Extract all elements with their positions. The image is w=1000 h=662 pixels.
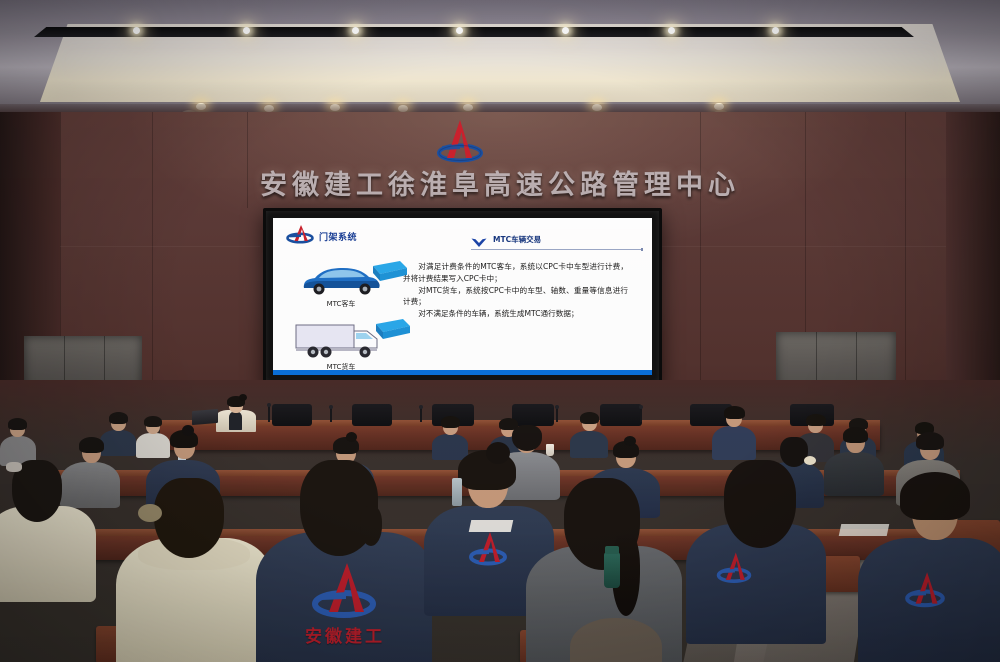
chevron-down-icon bbox=[471, 235, 487, 245]
microphone-icon bbox=[268, 406, 270, 422]
slide-section-title: MTC车辆交易 bbox=[493, 234, 541, 245]
slide-title: 门架系统 bbox=[319, 230, 357, 243]
slide-logo-icon bbox=[285, 224, 315, 249]
cpc-card-icon bbox=[373, 316, 413, 347]
attendee bbox=[0, 420, 36, 464]
projection-screen[interactable]: 门架系统 MTC车辆交易 bbox=[263, 208, 662, 386]
ceiling-light-slot bbox=[34, 27, 914, 37]
attendee-uniform: 安徽建工 bbox=[256, 470, 432, 662]
slide-body-text: 对满足计费条件的MTC客车，系统以CPC卡中车型进行计费，并将计费结果写入CPC… bbox=[403, 261, 628, 320]
slide-vehicle-truck-caption: MTC货车 bbox=[327, 362, 356, 370]
ceiling-spot-icon bbox=[668, 27, 675, 34]
attendee bbox=[712, 408, 756, 458]
attendee bbox=[0, 466, 96, 596]
ceiling-spot-icon bbox=[243, 27, 250, 34]
attendee-uniform bbox=[858, 482, 1000, 662]
green-thermos-lid bbox=[605, 546, 619, 554]
company-logo-icon bbox=[430, 118, 486, 164]
uniform-logo-icon bbox=[714, 550, 754, 586]
slide-paragraph: 对不满足条件的车辆，系统生成MTC通行数据； bbox=[403, 308, 628, 320]
attendee bbox=[432, 418, 468, 458]
attendee bbox=[556, 618, 676, 662]
podium-chair[interactable] bbox=[272, 404, 312, 426]
microphone-icon bbox=[420, 408, 422, 422]
slide-section-rule bbox=[471, 249, 643, 250]
presenter bbox=[214, 396, 260, 430]
uniform-logo-icon bbox=[466, 530, 510, 568]
slide-section-header: MTC车辆交易 bbox=[471, 234, 541, 245]
slide-header: 门架系统 bbox=[285, 224, 357, 249]
slide-vehicle-car-caption: MTC客车 bbox=[327, 299, 356, 309]
paper-notes bbox=[469, 520, 514, 532]
microphone-icon bbox=[556, 408, 558, 422]
microphone-icon bbox=[330, 408, 332, 422]
laptop[interactable] bbox=[192, 409, 218, 425]
water-bottle bbox=[452, 478, 462, 506]
ceiling-spot-icon bbox=[133, 27, 140, 34]
presenter-inner-top bbox=[229, 412, 242, 430]
presenter-hair-bun bbox=[239, 394, 247, 401]
uniform-logo-icon bbox=[308, 560, 380, 622]
ceiling-spot-icon bbox=[562, 27, 569, 34]
conference-room-scene: 安徽建工徐淮阜高速公路管理中心 门架系统 bbox=[0, 0, 1000, 662]
podium-chair[interactable] bbox=[352, 404, 392, 426]
uniform-logo-icon bbox=[902, 570, 948, 610]
ceiling-spot-icon bbox=[772, 27, 779, 34]
attendee bbox=[116, 486, 272, 662]
slide-paragraph: 对MTC货车，系统按CPC卡中的车型、轴数、重量等信息进行计费； bbox=[403, 285, 628, 309]
uniform-back-text: 安徽建工 bbox=[286, 622, 404, 647]
presentation-slide: 门架系统 MTC车辆交易 bbox=[273, 218, 652, 370]
attendee-uniform bbox=[686, 470, 826, 630]
ceiling-spot-icon bbox=[456, 27, 463, 34]
green-thermos bbox=[604, 552, 620, 588]
screen-display-area: 门架系统 MTC车辆交易 bbox=[273, 218, 652, 370]
ceiling-spot-icon bbox=[352, 27, 359, 34]
venue-wall-title: 安徽建工徐淮阜高速公路管理中心 bbox=[0, 163, 1000, 202]
slide-footer-bar bbox=[273, 370, 652, 375]
paper-notes bbox=[839, 524, 890, 536]
slide-paragraph: 对满足计费条件的MTC客车，系统以CPC卡中车型进行计费，并将计费结果写入CPC… bbox=[403, 261, 628, 285]
microphone-icon bbox=[640, 408, 642, 422]
